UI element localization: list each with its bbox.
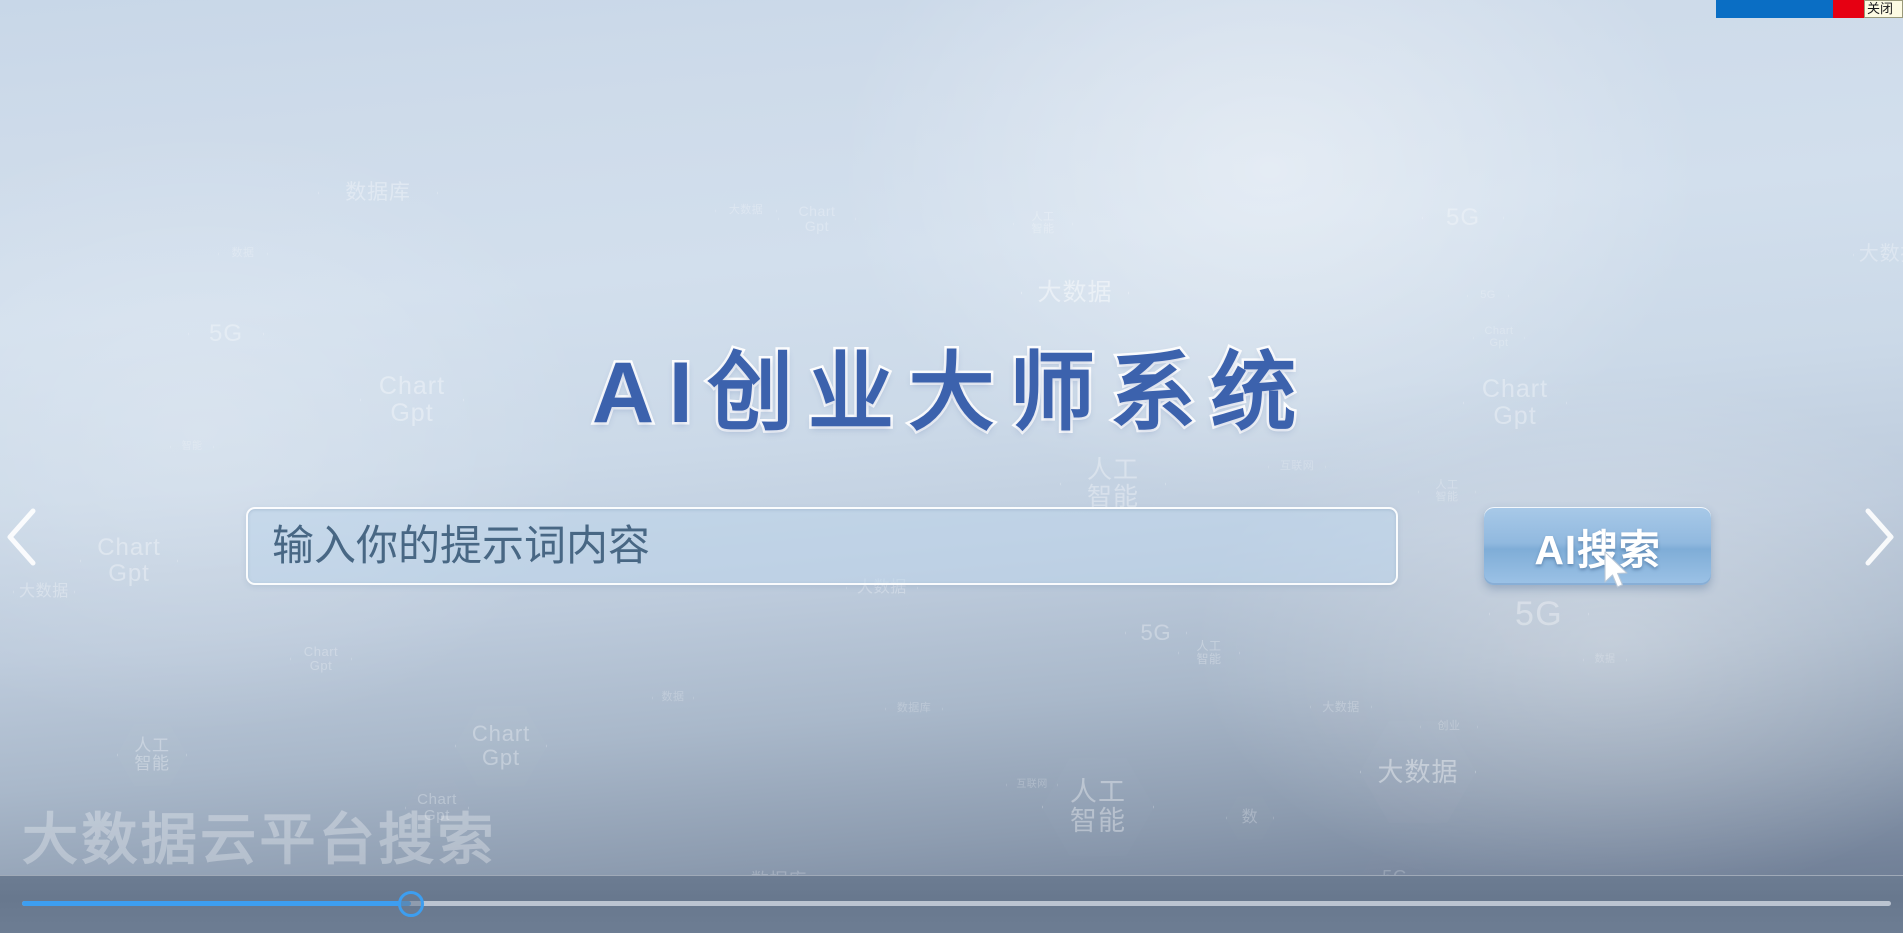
- background-hex-label: ChartGpt: [417, 792, 457, 824]
- background-hex-badge: 大数据: [1021, 244, 1129, 342]
- background-hex-badge: ChartGpt: [1463, 355, 1567, 451]
- background-hex-label: 数据库: [345, 182, 411, 205]
- background-hex-label: 人工智能: [1436, 480, 1459, 504]
- background-hex-badge: ChartGpt: [80, 516, 178, 606]
- background-hex-label: 创业: [1438, 721, 1461, 733]
- background-hex-badge: 大数据: [1310, 678, 1372, 736]
- background-hex-badge: 大数据: [13, 563, 75, 621]
- chevron-left-icon[interactable]: [0, 503, 46, 571]
- background-hex-badge: ChartGpt: [455, 703, 547, 789]
- taskbar-strip: [1716, 0, 1833, 18]
- player-bar: [0, 875, 1903, 933]
- background-hex-badge: ChartGpt: [405, 778, 469, 838]
- ai-search-button[interactable]: AI搜索: [1484, 507, 1711, 585]
- search-input[interactable]: [246, 507, 1398, 585]
- background-hex-label: 大数据: [1322, 701, 1359, 714]
- background-hex-badge: 创业: [1420, 700, 1478, 754]
- watermark-text: 大数据云平台搜索: [22, 795, 497, 876]
- background-hex-badge: 大数据: [1853, 222, 1903, 288]
- close-tooltip: 关闭: [1864, 0, 1903, 18]
- background-hex-label: 5G: [1446, 205, 1480, 231]
- background-hex-label: ChartGpt: [97, 535, 161, 587]
- background-hex-badge: 数据库: [318, 139, 438, 247]
- background-hex-badge: 大数据: [715, 182, 777, 240]
- background-hex-badge: 5G: [1125, 604, 1187, 662]
- background-hex-badge: 5G: [1467, 277, 1509, 315]
- progress-slider[interactable]: [22, 901, 1891, 906]
- background-hex-label: 数据: [662, 692, 685, 704]
- search-bar: AI搜索: [246, 503, 1711, 589]
- background-hex-badge: 数据: [652, 678, 694, 718]
- background-hex-badge: ChartGpt: [360, 352, 464, 448]
- chevron-right-icon[interactable]: [1855, 503, 1901, 571]
- progress-fill: [22, 901, 411, 906]
- background-hex-badge: 数: [1226, 795, 1274, 841]
- background-hex-badge: 人工智能: [117, 722, 187, 788]
- light-bloom: [1200, 380, 1903, 900]
- background-hex-badge: 大数据: [1360, 718, 1476, 826]
- background-hex-badge: ChartGpt: [778, 183, 856, 255]
- background-hex-label: 人工智能: [134, 737, 169, 774]
- background-hex-label: 互联网: [1280, 461, 1314, 473]
- background-hex-badge: 数据库: [885, 682, 943, 736]
- background-hex-label: 大数据: [1377, 758, 1458, 786]
- app-stage: 数据库大数据ChartGpt5G大数据人工智能大数据5GChartGpt数据5G…: [0, 0, 1903, 933]
- background-hex-label: 5G: [209, 321, 243, 347]
- background-hex-label: 人工智能: [1197, 640, 1222, 666]
- page-title: AI创业大师系统: [0, 322, 1903, 447]
- background-hex-label: ChartGpt: [304, 645, 338, 673]
- background-hex-label: 5G: [1480, 290, 1496, 302]
- background-hex-label: 5G: [1515, 596, 1563, 633]
- background-hex-badge: 人工智能: [1178, 624, 1240, 682]
- background-hex-label: ChartGpt: [379, 373, 445, 427]
- background-hex-label: 数: [1242, 809, 1259, 826]
- background-hex-badge: 互联网: [1268, 440, 1326, 494]
- background-hex-badge: 5G: [188, 300, 264, 368]
- background-hex-label: 人工智能: [1032, 212, 1055, 236]
- background-hex-label: ChartGpt: [1484, 326, 1513, 350]
- background-hex-badge: 互联网: [1006, 760, 1058, 810]
- background-hex-label: 大数据: [1859, 244, 1903, 266]
- background-hex-label: 大数据: [19, 583, 69, 600]
- background-hex-badge: 人工智能: [1013, 196, 1073, 252]
- light-bloom: [820, 0, 1720, 520]
- progress-handle[interactable]: [398, 891, 424, 917]
- close-icon[interactable]: [1833, 0, 1864, 18]
- background-hex-badge: ChartGpt: [290, 630, 352, 688]
- background-hex-label: ChartGpt: [798, 204, 835, 234]
- background-hex-label: 大数据: [729, 205, 763, 217]
- background-hex-badge: 智能: [170, 427, 214, 467]
- background-hex-badge: 人工智能: [1042, 755, 1154, 859]
- background-hex-badge: 5G: [1422, 181, 1504, 255]
- background-hex-label: 数据: [1595, 655, 1616, 666]
- background-hex-label: 数据库: [897, 703, 931, 715]
- background-hex-badge: 数据: [218, 231, 268, 277]
- background-hex-label: 数据: [232, 248, 255, 260]
- background-hex-label: 大数据: [1038, 280, 1113, 306]
- background-hex-badge: 数据: [1583, 640, 1627, 680]
- background-hex-label: ChartGpt: [1482, 376, 1548, 430]
- top-chrome: 关闭: [1716, 0, 1903, 18]
- background-hex-label: 互联网: [1016, 780, 1047, 791]
- background-hex-label: ChartGpt: [472, 722, 530, 770]
- light-bloom: [0, 120, 600, 740]
- background-hex-label: 智能: [182, 442, 203, 453]
- background-hex-badge: ChartGpt: [1473, 314, 1525, 362]
- background-hex-label: 人工智能: [1070, 778, 1126, 836]
- background-hex-label: 5G: [1140, 621, 1171, 645]
